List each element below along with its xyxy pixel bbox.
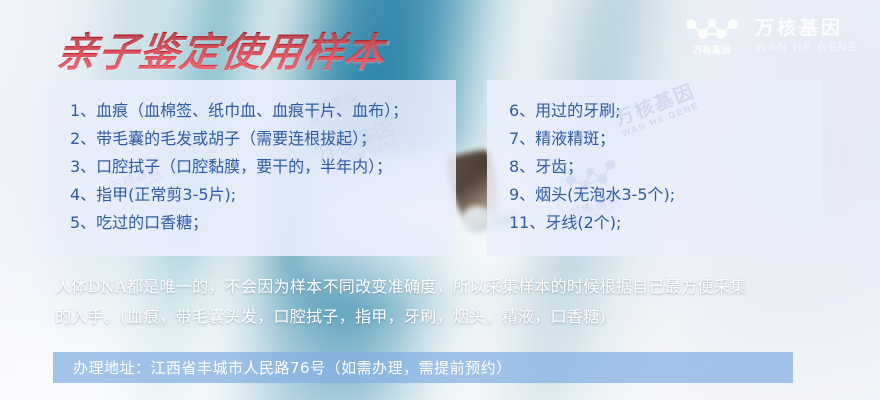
list-item: 7、精液精斑； xyxy=(509,125,823,153)
brand-name-en: WAN HE GENE xyxy=(755,41,858,54)
list-item: 5、吃过的口香糖； xyxy=(70,209,456,237)
list-item: 4、指甲(正常剪3-5片); xyxy=(70,181,456,209)
brand-mark-caption: 万核基因 xyxy=(693,46,731,55)
molecule-dna-node-icon xyxy=(683,18,741,44)
brand-logo: 万核基因 万核基因 WAN HE GENE xyxy=(683,18,858,55)
explanatory-note: 人体DNA都是唯一的，不会因为样本不同改变准确度，所以采集样本的时候根据自己最方… xyxy=(55,272,845,332)
address-text: 办理地址：江西省丰城市人民路76号（如需办理，需提前预约） xyxy=(53,357,512,378)
note-line-1: 人体DNA都是唯一的，不会因为样本不同改变准确度，所以采集样本的时候根据自己最方… xyxy=(55,272,845,302)
list-item: 2、带毛囊的毛发或胡子（需要连根拔起）； xyxy=(70,125,456,153)
sample-list-left: 1、血痕（血棉签、纸巾血、血痕干片、血布）； 2、带毛囊的毛发或胡子（需要连根拔… xyxy=(48,80,456,237)
list-item: 6、用过的牙刷; xyxy=(509,97,823,125)
sample-panel-left: 万核基因 WAN HE GENE 万核基因 WAN HE GENE 万核基因 W… xyxy=(48,80,456,256)
note-line-2: 的入手。(血痕，带毛囊头发，口腔拭子，指甲，牙刷，烟头，精液，口香糖) xyxy=(55,302,845,332)
list-item: 3、口腔拭子（口腔黏膜，要干的，半年内）； xyxy=(70,153,456,181)
poster-root: 亲子鉴定使用样本 xyxy=(0,0,880,400)
brand-wordmark: 万核基因 WAN HE GENE xyxy=(755,19,858,54)
list-item: 1、血痕（血棉签、纸巾血、血痕干片、血布）； xyxy=(70,97,456,125)
sample-list-right: 6、用过的牙刷; 7、精液精斑； 8、牙齿； 9、烟头(无泡水3-5个); 11… xyxy=(487,80,823,237)
list-item: 8、牙齿； xyxy=(509,153,823,181)
list-item: 9、烟头(无泡水3-5个); xyxy=(509,181,823,209)
list-item: 11、牙线(2个); xyxy=(509,209,823,237)
sample-panel-right: 万核基因 WAN HE GENE 万核基因 xyxy=(487,80,823,256)
page-title: 亲子鉴定使用样本 xyxy=(53,20,390,78)
address-bar: 办理地址：江西省丰城市人民路76号（如需办理，需提前预约） xyxy=(53,352,793,383)
brand-name-cn: 万核基因 xyxy=(755,19,858,39)
brand-mark: 万核基因 xyxy=(683,18,741,55)
